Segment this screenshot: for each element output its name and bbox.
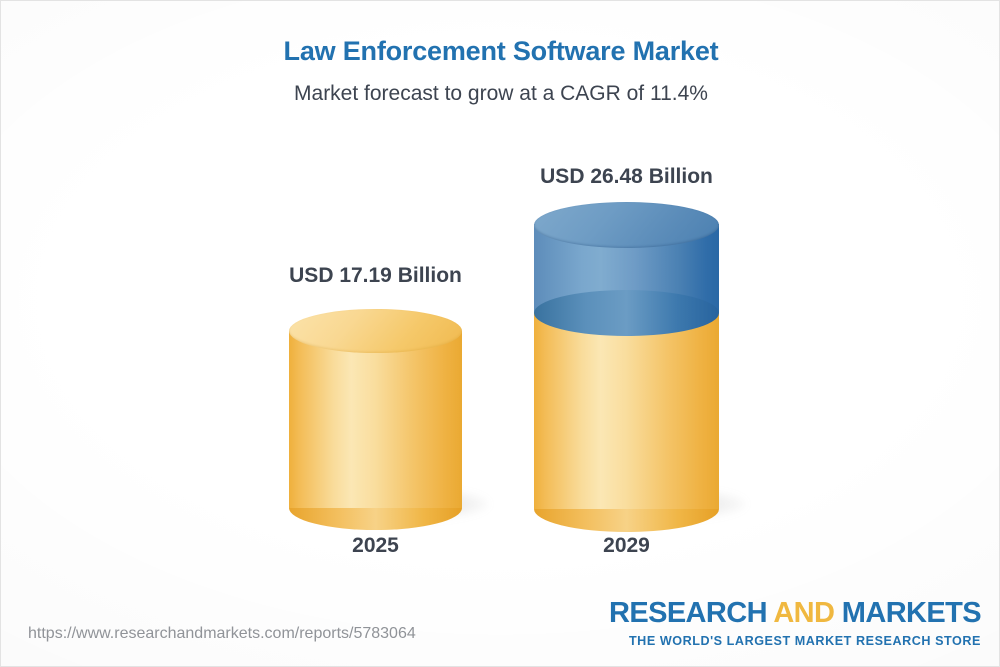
logo-word-and: AND: [773, 597, 834, 629]
cylinder-body-lower-2029: [534, 313, 719, 509]
cylinder-body-2025: [289, 331, 462, 508]
cylinder-top-2025: [289, 309, 462, 353]
logo-word-markets: MARKETS: [834, 597, 981, 629]
logo-word-research: RESEARCH: [609, 597, 773, 629]
bar-category-label-2025: 2025: [289, 534, 462, 558]
logo-wordmark: RESEARCH AND MARKETS: [609, 599, 981, 628]
bar-category-label-2029: 2029: [534, 534, 719, 558]
chart-header: Law Enforcement Software Market Market f…: [1, 35, 1000, 107]
chart-page: Law Enforcement Software Market Market f…: [0, 0, 1000, 667]
cylinder-segment-seam-2029: [534, 290, 719, 336]
page-title: Law Enforcement Software Market: [1, 35, 1000, 67]
logo-tagline: THE WORLD'S LARGEST MARKET RESEARCH STOR…: [609, 635, 981, 648]
research-and-markets-logo[interactable]: RESEARCH AND MARKETS THE WORLD'S LARGEST…: [609, 599, 981, 648]
cylinder-top-2029: [534, 202, 719, 248]
source-url[interactable]: https://www.researchandmarkets.com/repor…: [28, 625, 416, 643]
chart-subtitle: Market forecast to grow at a CAGR of 11.…: [1, 81, 1000, 106]
